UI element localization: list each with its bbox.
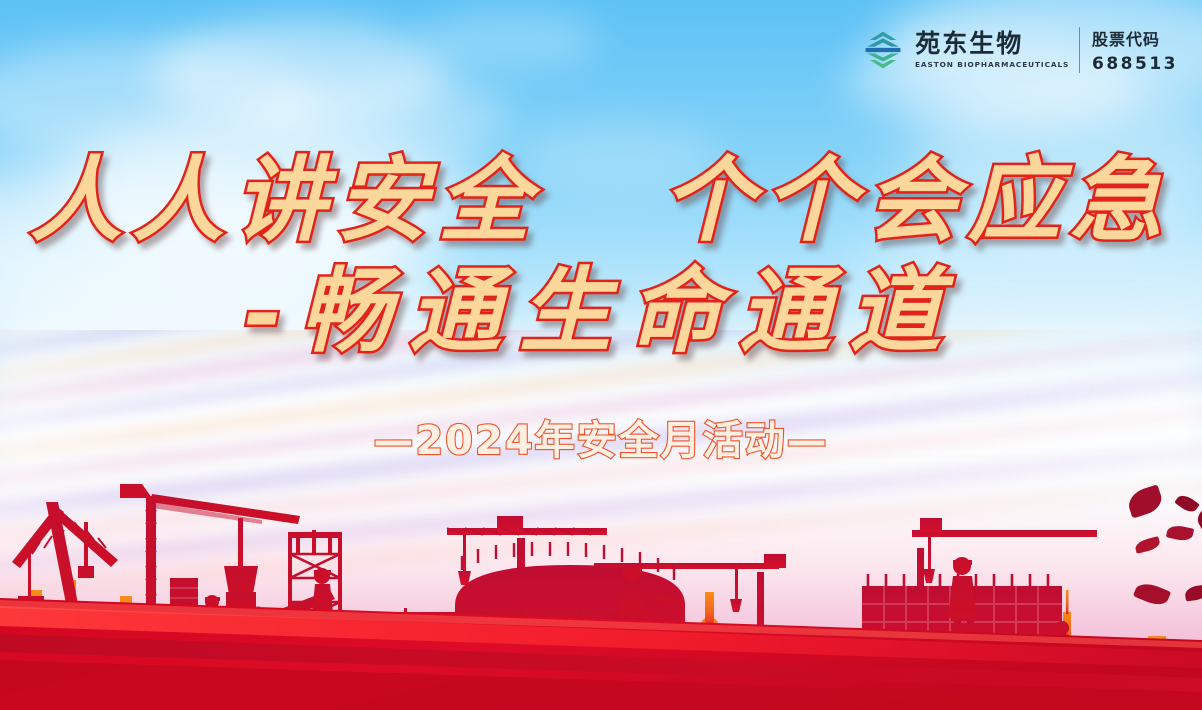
headline-text-2: 个个会应急 bbox=[662, 146, 1172, 254]
headline-text-1: 人人讲安全 bbox=[30, 146, 540, 254]
safety-month-banner: 人人讲安全 个个会应急 -畅通生命通道 —2024年安全月活动— 苑东生物 EA… bbox=[0, 0, 1202, 710]
easton-leaf-mark-icon bbox=[863, 29, 903, 71]
red-ribbon-band bbox=[0, 560, 1202, 710]
company-name-cn: 苑东生物 bbox=[915, 31, 1066, 56]
headline-line-1: 人人讲安全 个个会应急 bbox=[0, 152, 1202, 249]
event-subtitle: —2024年安全月活动— bbox=[0, 408, 1202, 466]
stock-info: 股票代码 688513 bbox=[1092, 26, 1178, 74]
cloud bbox=[420, 10, 600, 70]
stock-code-label: 股票代码 bbox=[1092, 26, 1178, 50]
stock-code-value: 688513 bbox=[1092, 54, 1178, 74]
headline-text-3: -畅通生命通道 bbox=[243, 257, 959, 365]
brand-lockup[interactable]: 苑东生物 EASTON BIOPHARMACEUTICALS 股票代码 6885… bbox=[863, 26, 1178, 74]
company-name-en: EASTON BIOPHARMACEUTICALS bbox=[915, 61, 1069, 68]
brand-names: 苑东生物 EASTON BIOPHARMACEUTICALS bbox=[915, 31, 1066, 68]
headline-line-2: -畅通生命通道 bbox=[0, 263, 1202, 360]
headline-block: 人人讲安全 个个会应急 -畅通生命通道 bbox=[0, 152, 1202, 359]
logo-divider bbox=[1079, 27, 1081, 73]
